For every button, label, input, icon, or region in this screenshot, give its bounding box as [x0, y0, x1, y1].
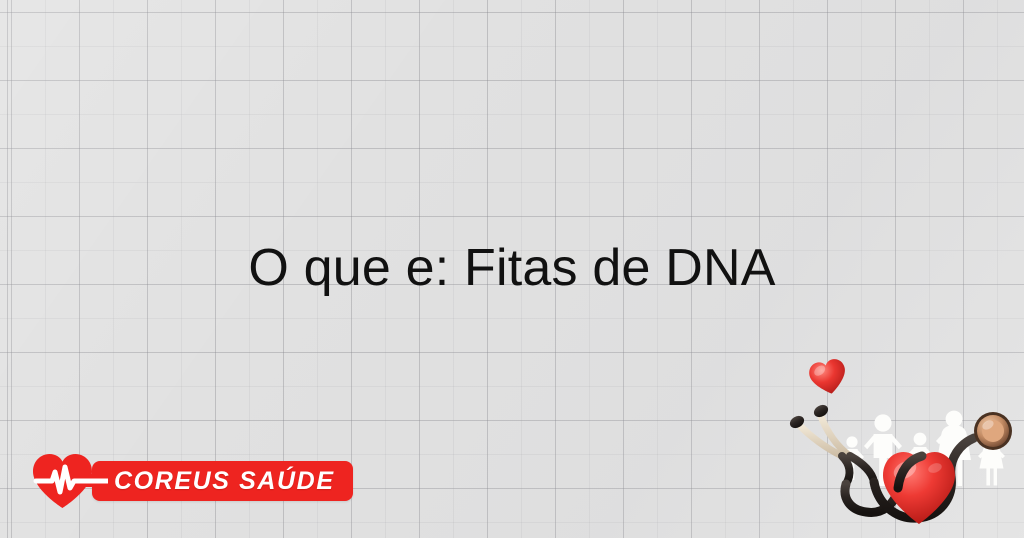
slide-canvas: O que e: Fitas de DNA COREUS SAÚDE [0, 0, 1024, 538]
family-health-illustration [788, 352, 1024, 538]
brand-banner: COREUS SAÚDE [92, 461, 353, 501]
small-heart-icon [807, 357, 849, 397]
heart-pulse-icon [30, 450, 108, 512]
chestpiece-icon [974, 412, 1012, 450]
brand-logo[interactable]: COREUS SAÚDE [30, 450, 353, 512]
brand-name: COREUS SAÚDE [114, 467, 335, 496]
slide-title: O que e: Fitas de DNA [248, 240, 775, 297]
title-container: O que e: Fitas de DNA [0, 240, 1024, 297]
